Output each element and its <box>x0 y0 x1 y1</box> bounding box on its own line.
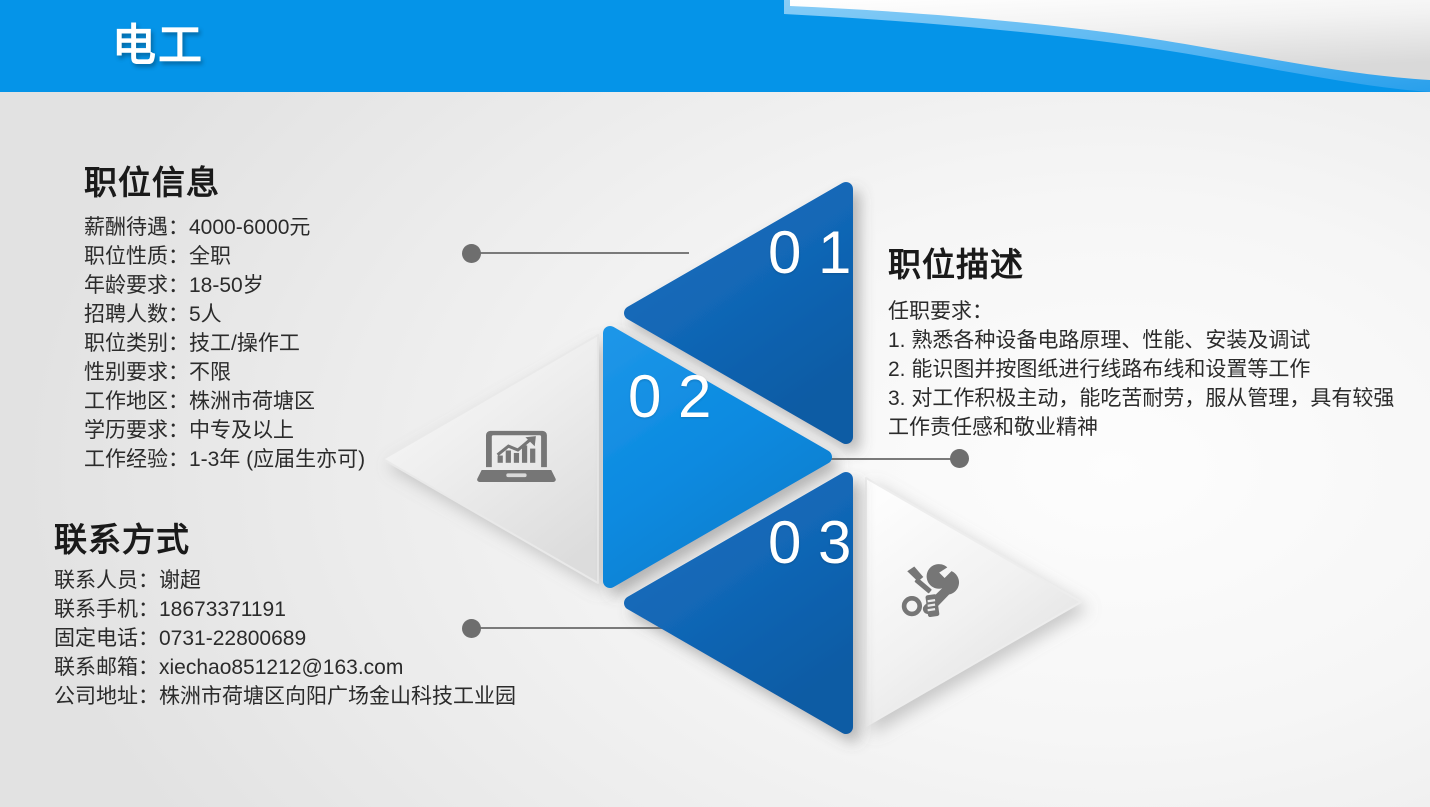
icon-triangle-laptop-shape <box>383 335 598 583</box>
slide-header: 电工 <box>0 0 1430 92</box>
header-wave-decoration <box>730 0 1430 92</box>
step-number-03: 0 3 <box>768 512 851 573</box>
connector-dot-01 <box>462 244 481 263</box>
icon-triangle-tools-shape <box>866 478 1081 726</box>
step-number-01: 0 1 <box>768 222 851 283</box>
job-description-body: 任职要求： 1. 熟悉各种设备电路原理、性能、安装及调试 2. 能识图并按图纸进… <box>888 298 1428 443</box>
job-info-heading: 职位信息 <box>84 156 220 204</box>
page-title: 电工 <box>112 18 204 73</box>
header-wave-svg <box>730 0 1430 92</box>
job-description-heading: 职位描述 <box>888 238 1024 286</box>
connector-line-02 <box>828 458 956 460</box>
slide-root: 电工 <box>0 0 1430 807</box>
icon-triangle-tools <box>866 478 1081 726</box>
contact-heading: 联系方式 <box>54 513 190 561</box>
contact-body: 联系人员：谢超 联系手机：18673371191 固定电话：0731-22800… <box>54 567 516 712</box>
step-number-02: 0 2 <box>628 366 711 427</box>
connector-dot-02 <box>950 449 969 468</box>
connector-line-01 <box>474 252 689 254</box>
job-info-body: 薪酬待遇：4000-6000元 职位性质：全职 年龄要求：18-50岁 招聘人数… <box>84 214 365 475</box>
icon-triangle-laptop <box>383 335 598 583</box>
